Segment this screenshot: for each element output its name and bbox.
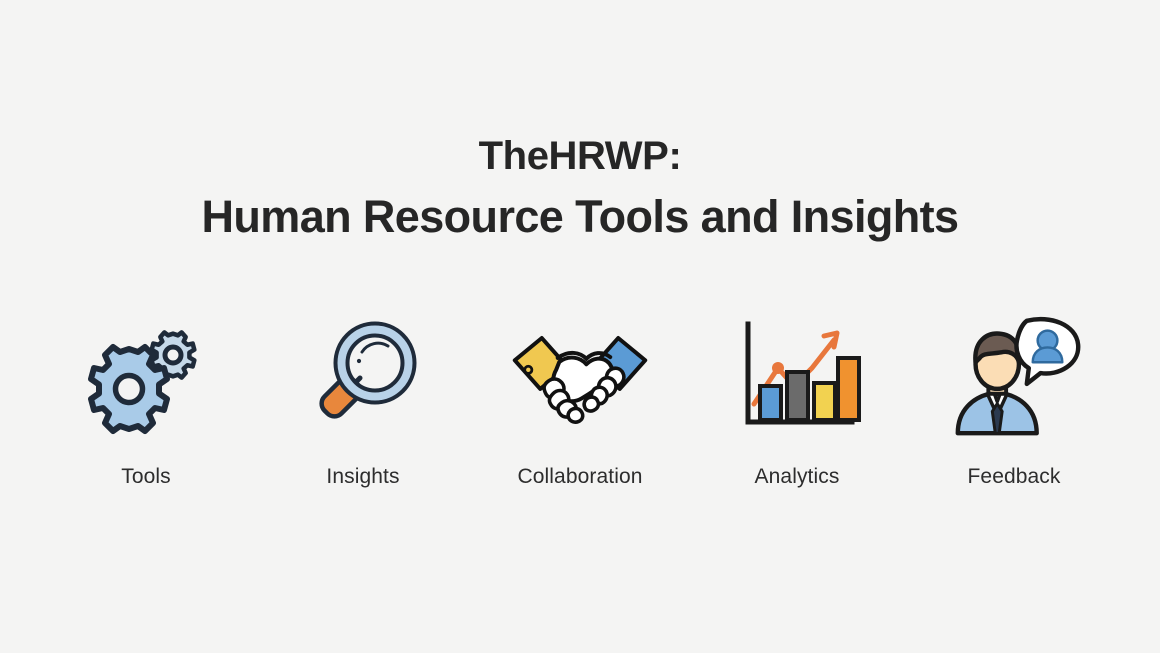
feature-label-collaboration: Collaboration [517, 466, 642, 487]
magnifier-icon [293, 312, 433, 442]
feature-item-analytics[interactable]: Analytics [697, 312, 897, 487]
feature-label-tools: Tools [121, 466, 171, 487]
title-line-1: TheHRWP: [0, 136, 1160, 176]
feature-item-collaboration[interactable]: Collaboration [480, 312, 680, 487]
feature-item-feedback[interactable]: Feedback [914, 312, 1114, 487]
page-title: TheHRWP: Human Resource Tools and Insigh… [0, 136, 1160, 239]
feature-label-feedback: Feedback [967, 466, 1060, 487]
handshake-icon [510, 312, 650, 442]
slide-canvas: TheHRWP: Human Resource Tools and Insigh… [0, 0, 1160, 653]
user-feedback-icon [944, 312, 1084, 442]
gears-icon [76, 312, 216, 442]
feature-item-tools[interactable]: Tools [46, 312, 246, 487]
feature-label-insights: Insights [326, 466, 399, 487]
feature-label-analytics: Analytics [755, 466, 840, 487]
title-line-2: Human Resource Tools and Insights [0, 194, 1160, 239]
bar-chart-icon [727, 312, 867, 442]
feature-item-insights[interactable]: Insights [263, 312, 463, 487]
feature-row: Tools [46, 312, 1114, 487]
